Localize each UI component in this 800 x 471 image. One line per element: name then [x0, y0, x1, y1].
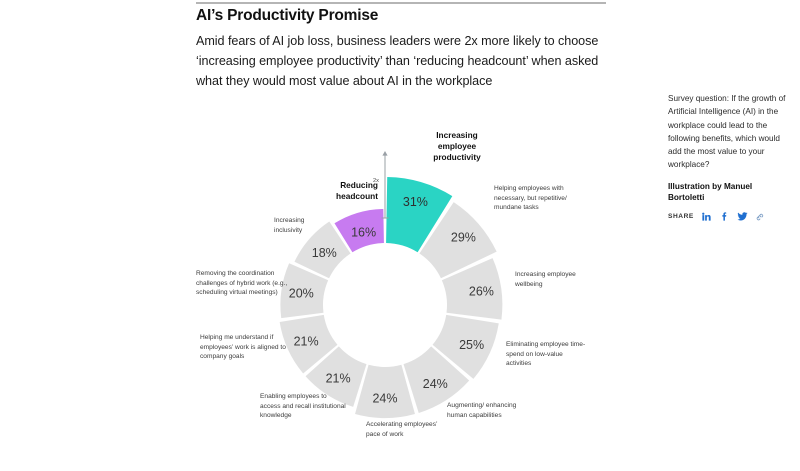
twitter-icon[interactable]	[737, 211, 748, 222]
segment-value-label: 29%	[451, 231, 476, 245]
segment-value-label: 25%	[459, 338, 484, 352]
callout-hybrid-work-coordination: Removing the coordination challenges of …	[196, 269, 294, 298]
callout-increasing-employee-productivity: Increasingemployeeproductivity	[402, 130, 512, 162]
segment-value-label: 16%	[351, 226, 376, 240]
top-divider	[196, 2, 606, 4]
page-subtitle: Amid fears of AI job loss, business lead…	[196, 32, 606, 92]
segment-value-label: 21%	[326, 371, 351, 385]
segment-value-label: 24%	[372, 392, 397, 406]
facebook-icon[interactable]	[719, 211, 730, 222]
callout-institutional-knowledge: Enabling employees to access and recall …	[260, 392, 346, 421]
donut-chart: 31%29%26%25%24%24%21%21%20%18%16% Increa…	[170, 120, 600, 465]
callout-employee-wellbeing: Increasing employee wellbeing	[515, 270, 595, 289]
share-row: SHARE	[668, 211, 786, 222]
segment-value-label: 21%	[294, 335, 319, 349]
callout-reducing-headcount: Reducingheadcount	[290, 180, 378, 202]
callout-augmenting-capabilities: Augmenting/ enhancing human capabilities	[447, 401, 525, 420]
header: AI’s Productivity Promise Amid fears of …	[196, 6, 606, 92]
link-icon[interactable]	[755, 211, 766, 222]
callout-accelerating-pace: Accelerating employees’ pace of work	[366, 420, 438, 439]
share-label: SHARE	[668, 213, 694, 220]
callout-increasing-inclusivity: Increasing inclusivity	[274, 216, 334, 235]
page-title: AI’s Productivity Promise	[196, 6, 606, 26]
multiplier-label: 2x	[373, 178, 379, 184]
sidebar-rail: Survey question: If the growth of Artifi…	[668, 92, 786, 222]
callout-aligned-company-goals: Helping me understand if employees’ work…	[200, 333, 292, 362]
callout-low-value-activities: Eliminating employee time-spend on low-v…	[506, 340, 586, 369]
callout-repetitive-tasks: Helping employees with necessary, but re…	[494, 184, 580, 213]
segment-value-label: 26%	[469, 285, 494, 299]
infographic-page: AI’s Productivity Promise Amid fears of …	[0, 0, 800, 471]
illustration-credit: Illustration by Manuel Bortoletti	[668, 181, 786, 204]
segment-value-label: 18%	[312, 246, 337, 260]
survey-question: Survey question: If the growth of Artifi…	[668, 92, 786, 172]
segment-value-label: 24%	[423, 377, 448, 391]
segment-value-label: 31%	[403, 195, 428, 209]
linkedin-icon[interactable]	[701, 211, 712, 222]
